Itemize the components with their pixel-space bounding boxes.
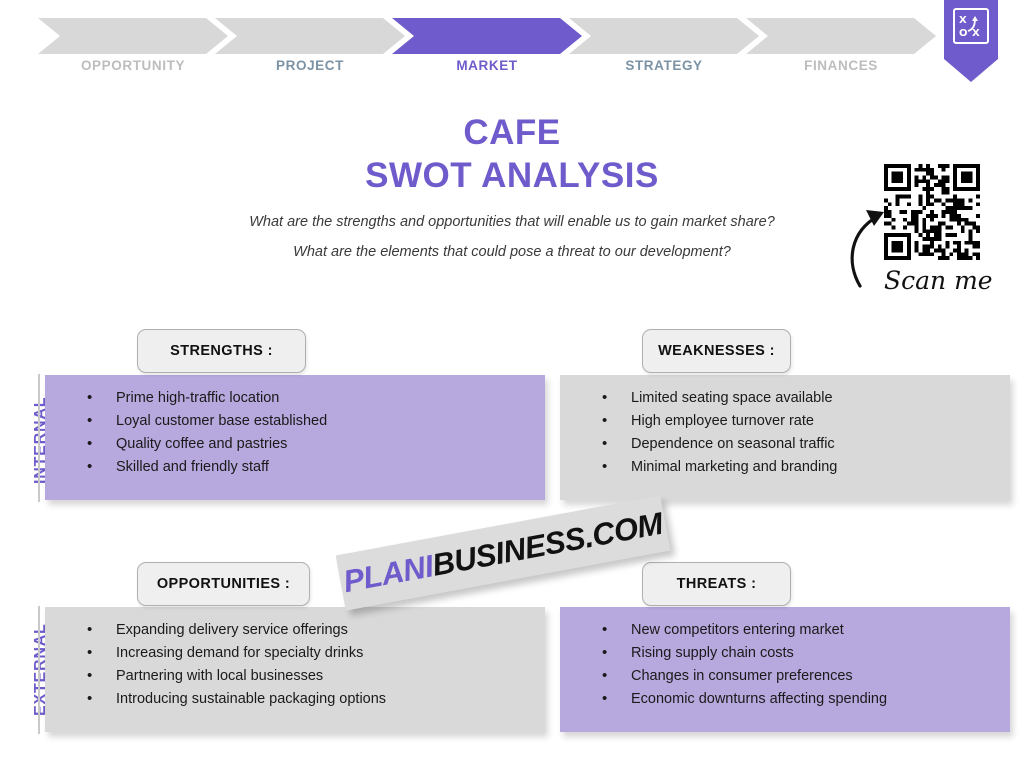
list-item: Dependence on seasonal traffic <box>578 437 992 452</box>
list-item: Partnering with local businesses <box>63 669 527 684</box>
title-block: CAFE SWOT ANALYSIS What are the strength… <box>120 112 904 261</box>
weaknesses-list: Limited seating space available High emp… <box>578 391 992 475</box>
scan-me-caption: Scan me <box>884 266 993 295</box>
nav-step-strategy[interactable]: STRATEGY <box>569 18 759 54</box>
nav-step-market[interactable]: MARKET <box>392 18 582 54</box>
quadrant-strengths: Prime high-traffic location Loyal custom… <box>45 375 545 500</box>
nav-step-shape <box>392 18 582 54</box>
list-item: Expanding delivery service offerings <box>63 623 527 638</box>
list-item: Limited seating space available <box>578 391 992 406</box>
quadrant-threats: New competitors entering market Rising s… <box>560 607 1010 732</box>
axis-rule-internal <box>38 374 40 502</box>
qr-block: Scan me <box>862 158 992 308</box>
nav-step-label: STRATEGY <box>569 58 759 73</box>
list-item: Rising supply chain costs <box>578 646 992 661</box>
nav-step-finances[interactable]: FINANCES <box>746 18 936 54</box>
quadrant-strengths-title: STRENGTHS : <box>137 329 306 373</box>
list-item: High employee turnover rate <box>578 414 992 429</box>
step-navigation: OPPORTUNITY PROJECT MARKET STRATEGY FINA… <box>0 0 1024 95</box>
svg-text:X: X <box>959 15 967 26</box>
list-item: Quality coffee and pastries <box>63 437 527 452</box>
list-item: Economic downturns affecting spending <box>578 692 992 707</box>
list-item: Prime high-traffic location <box>63 391 527 406</box>
guiding-question-2: What are the elements that could pose a … <box>120 245 904 261</box>
svg-text:O: O <box>959 28 968 39</box>
page-subtitle: SWOT ANALYSIS <box>120 155 904 198</box>
list-item: Minimal marketing and branding <box>578 460 992 475</box>
nav-step-label: OPPORTUNITY <box>38 58 228 73</box>
quadrant-opportunities-title: OPPORTUNITIES : <box>137 562 310 606</box>
nav-step-shape <box>746 18 936 54</box>
nav-step-label: PROJECT <box>215 58 405 73</box>
quadrant-title-text: WEAKNESSES : <box>658 343 775 359</box>
nav-step-shape <box>215 18 405 54</box>
quadrant-threats-body: New competitors entering market Rising s… <box>560 607 1010 732</box>
svg-text:X: X <box>972 28 980 39</box>
watermark-brand-part-1: PLANI <box>340 548 435 599</box>
watermark-brand-part-2: BUSINESS.COM <box>429 506 665 583</box>
quadrant-strengths-body: Prime high-traffic location Loyal custom… <box>45 375 545 500</box>
quadrant-opportunities: Expanding delivery service offerings Inc… <box>45 607 545 732</box>
guiding-question-1: What are the strengths and opportunities… <box>120 215 904 231</box>
threats-list: New competitors entering market Rising s… <box>578 623 992 707</box>
nav-step-label: MARKET <box>392 58 582 73</box>
strategy-playbook-icon: X O X <box>953 8 989 44</box>
watermark-banner: PLANIBUSINESS.COM <box>336 495 671 610</box>
strengths-list: Prime high-traffic location Loyal custom… <box>63 391 527 475</box>
list-item: Introducing sustainable packaging option… <box>63 692 527 707</box>
nav-step-label: FINANCES <box>746 58 936 73</box>
quadrant-title-text: OPPORTUNITIES : <box>157 576 290 592</box>
opportunities-list: Expanding delivery service offerings Inc… <box>63 623 527 707</box>
quadrant-weaknesses-body: Limited seating space available High emp… <box>560 375 1010 500</box>
nav-step-opportunity[interactable]: OPPORTUNITY <box>38 18 228 54</box>
nav-step-shape <box>569 18 759 54</box>
quadrant-title-text: THREATS : <box>677 576 757 592</box>
list-item: Increasing demand for specialty drinks <box>63 646 527 661</box>
nav-step-project[interactable]: PROJECT <box>215 18 405 54</box>
list-item: Changes in consumer preferences <box>578 669 992 684</box>
nav-step-shape <box>38 18 228 54</box>
quadrant-weaknesses-title: WEAKNESSES : <box>642 329 791 373</box>
axis-rule-external <box>38 606 40 734</box>
page-title: CAFE <box>120 112 904 155</box>
quadrant-title-text: STRENGTHS : <box>170 343 273 359</box>
list-item: Skilled and friendly staff <box>63 460 527 475</box>
list-item: Loyal customer base established <box>63 414 527 429</box>
quadrant-threats-title: THREATS : <box>642 562 791 606</box>
quadrant-opportunities-body: Expanding delivery service offerings Inc… <box>45 607 545 732</box>
quadrant-weaknesses: Limited seating space available High emp… <box>560 375 1010 500</box>
watermark-text: PLANIBUSINESS.COM <box>340 506 665 600</box>
strategy-playbook-logo: X O X <box>944 0 998 82</box>
list-item: New competitors entering market <box>578 623 992 638</box>
